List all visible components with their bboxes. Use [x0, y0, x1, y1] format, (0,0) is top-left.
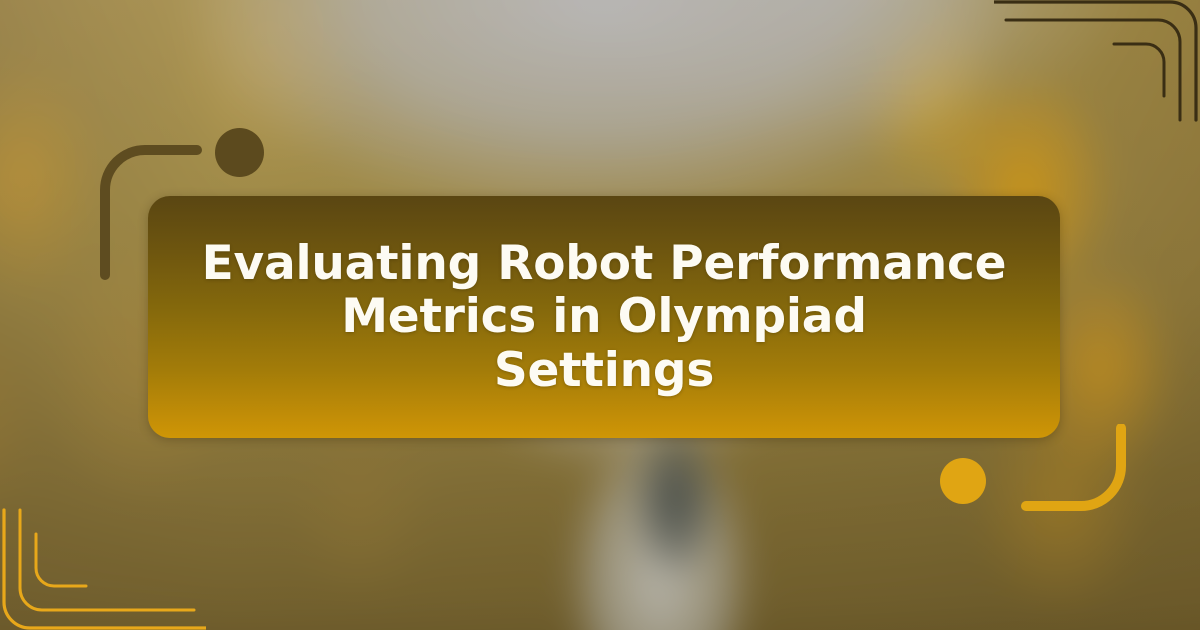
gold-dot — [940, 458, 986, 504]
title-card-banner: Evaluating Robot Performance Metrics in … — [0, 0, 1200, 630]
page-title: Evaluating Robot Performance Metrics in … — [174, 237, 1034, 396]
title-card: Evaluating Robot Performance Metrics in … — [148, 196, 1060, 438]
dark-dot — [215, 128, 264, 177]
